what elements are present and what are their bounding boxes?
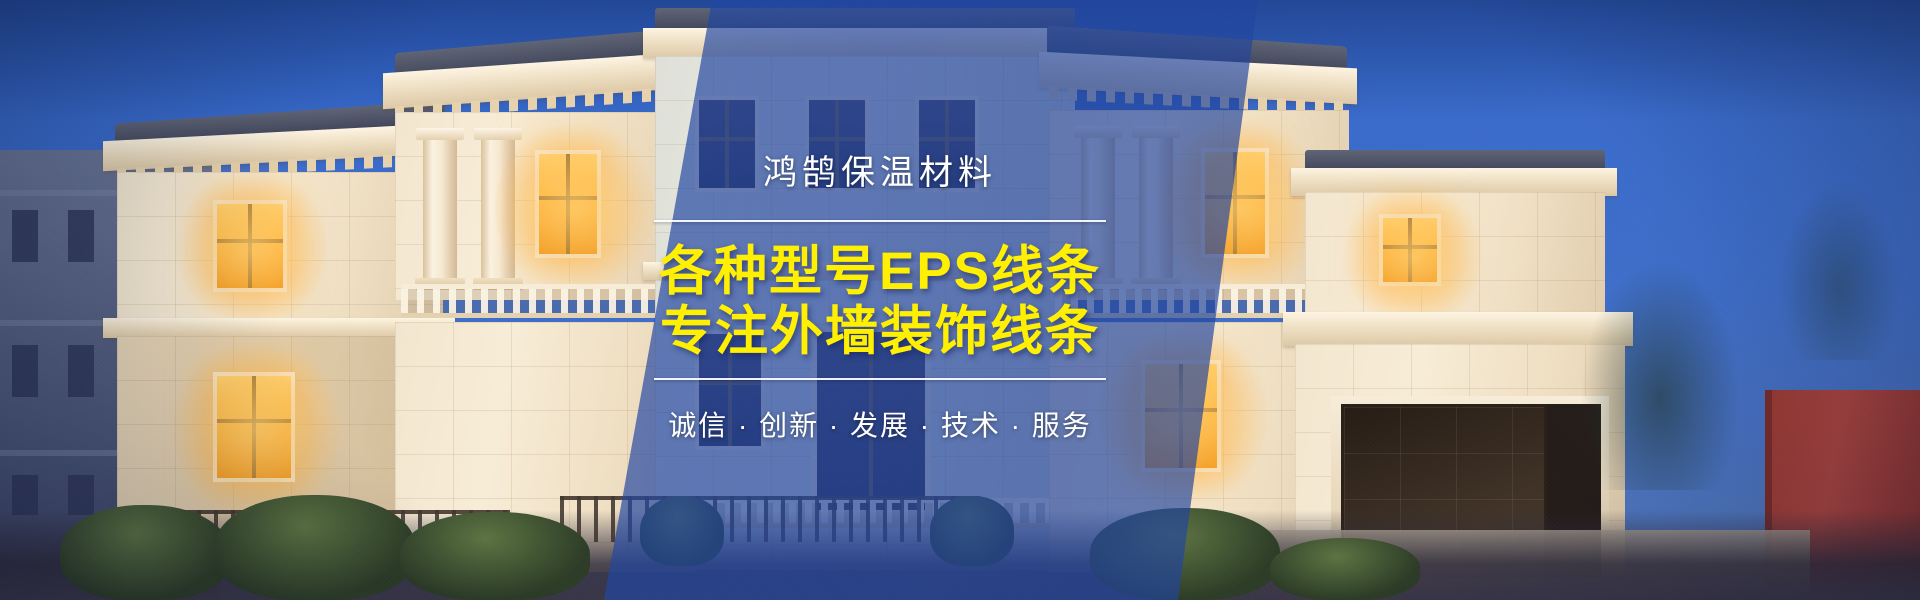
column-l2	[481, 138, 515, 280]
headline-group: 各种型号EPS线条 专注外墙装饰线条	[659, 242, 1101, 362]
hero-banner: 鸿鹄保温材料 各种型号EPS线条 专注外墙装饰线条 诚信 · 创新 · 发展 ·…	[0, 0, 1920, 600]
shrub-2	[215, 495, 415, 600]
tree-right	[1580, 260, 1740, 490]
window-right-wing	[1379, 214, 1441, 286]
window-left-upper	[213, 200, 287, 292]
divider-bottom	[654, 378, 1106, 380]
shrub-1	[60, 505, 230, 600]
column-l1	[423, 138, 457, 280]
tree-far-right	[1780, 180, 1900, 360]
brand-name: 鸿鹄保温材料	[763, 156, 997, 190]
banner-copy-block: 鸿鹄保温材料 各种型号EPS线条 专注外墙装饰线条 诚信 · 创新 · 发展 ·…	[560, 0, 1200, 600]
window-portico-right	[1201, 148, 1269, 258]
divider-top	[654, 220, 1106, 222]
slogan-text: 诚信 · 创新 · 发展 · 技术 · 服务	[668, 404, 1092, 444]
headline-line-2: 专注外墙装饰线条	[659, 302, 1101, 362]
wall-right-wing	[1305, 192, 1605, 312]
headline-line-1: 各种型号EPS线条	[659, 242, 1101, 302]
shrub-5	[1270, 538, 1420, 600]
window-left-lower	[213, 372, 295, 482]
